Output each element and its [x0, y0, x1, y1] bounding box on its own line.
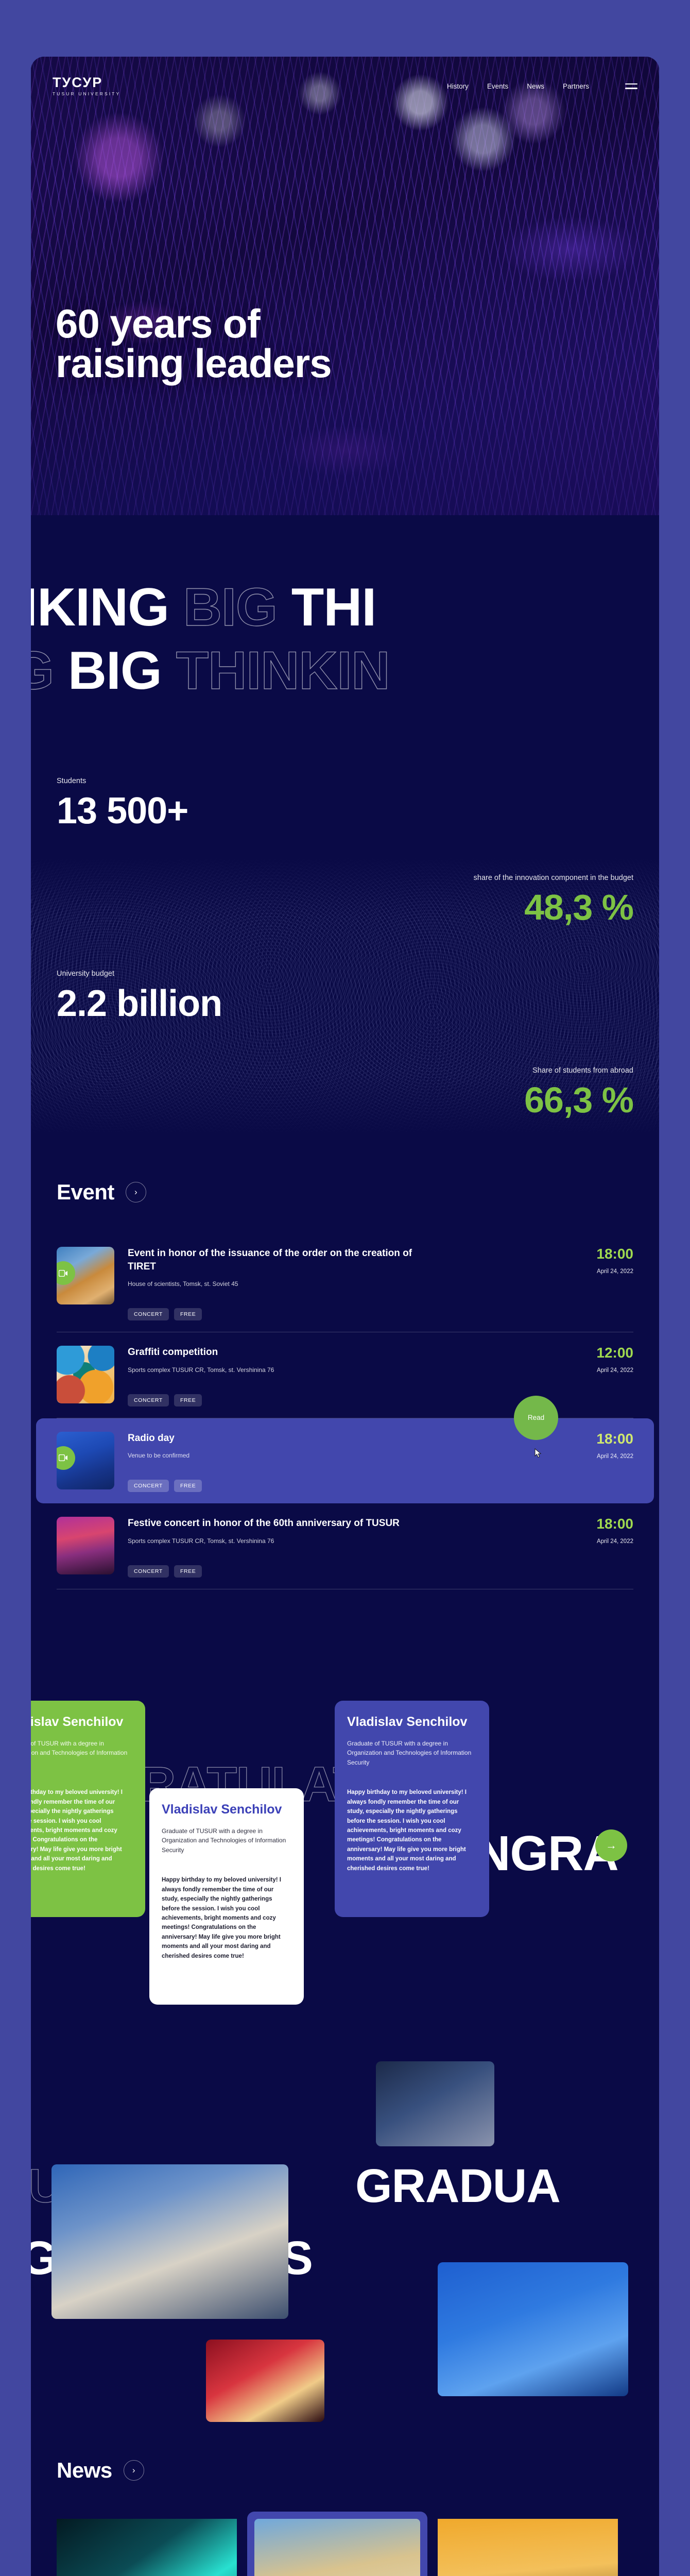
chevron-right-icon[interactable]: ›	[126, 1182, 146, 1202]
news-grid: 25.12.2021 GraduatesThe project of a TUS…	[31, 2512, 659, 2576]
graduates-photo-2	[376, 2061, 494, 2146]
stat-foreign-students: Share of students from abroad 66,3 %	[31, 1066, 659, 1118]
event-tag-concert[interactable]: CONCERT	[128, 1480, 169, 1492]
hero-section: ТУСУР TUSUR UNIVERSITY History Events Ne…	[31, 57, 659, 515]
site-logo[interactable]: ТУСУР TUSUR UNIVERSITY	[53, 76, 120, 96]
stats-section: Students 13 500+ share of the innovation…	[31, 749, 659, 1180]
event-row-active[interactable]: Radio day Venue to be confirmed CONCERT …	[36, 1418, 654, 1503]
marquee-word-5: BIG	[68, 641, 162, 701]
hamburger-menu-icon[interactable]	[625, 83, 637, 89]
event-date: April 24, 2022	[556, 1453, 633, 1460]
testimonial-message: Happy birthday to my beloved university!…	[31, 1788, 133, 1873]
news-section-header: News ›	[31, 2458, 659, 2483]
hero-title-line-2: raising leaders	[56, 341, 332, 386]
event-tag-concert[interactable]: CONCERT	[128, 1565, 169, 1578]
stat-label-students: Students	[57, 777, 633, 785]
event-tags: CONCERT FREE	[128, 1565, 543, 1578]
events-title: Event	[57, 1180, 114, 1205]
event-date: April 24, 2022	[556, 1367, 633, 1374]
mouse-cursor-icon	[534, 1448, 543, 1459]
logo-main-text: ТУСУР	[53, 76, 120, 90]
testimonial-card-white[interactable]: Vladislav Senchilov Graduate of TUSUR wi…	[149, 1788, 304, 2005]
top-navigation-bar: ТУСУР TUSUR UNIVERSITY History Events Ne…	[31, 57, 659, 101]
testimonial-name: Vladislav Senchilov	[347, 1714, 477, 1730]
marquee-section: INKING BIG THI NG BIG THINKIN	[31, 515, 659, 749]
graduates-solid-word-right: GRADUA	[355, 2159, 560, 2213]
event-title: Festive concert in honor of the 60th ann…	[128, 1517, 416, 1530]
read-button[interactable]: Read	[514, 1396, 558, 1440]
event-time: 12:00	[556, 1346, 633, 1360]
stat-value-university-budget: 2.2 billion	[57, 985, 633, 1022]
testimonial-card-blue[interactable]: Vladislav Senchilov Graduate of TUSUR wi…	[335, 1701, 489, 1917]
marquee-row-2: NG BIG THINKIN	[31, 639, 659, 703]
event-thumbnail	[57, 1517, 114, 1574]
graduates-photo-1	[51, 2164, 288, 2319]
event-title: Event in honor of the issuance of the or…	[128, 1247, 416, 1273]
testimonial-card-green[interactable]: Vladislav Senchilov Graduate of TUSUR wi…	[31, 1701, 145, 1917]
hero-vignette	[31, 57, 659, 515]
event-tags: CONCERT FREE	[128, 1308, 543, 1320]
hero-title: 60 years of raising leaders	[56, 304, 332, 383]
event-tag-free[interactable]: FREE	[174, 1394, 202, 1406]
stat-value-students: 13 500+	[57, 792, 633, 829]
congratulations-section: CONGRATULATION CONGRA Vladislav Senchilo…	[31, 1623, 659, 2030]
event-title: Graffiti competition	[128, 1346, 416, 1359]
stat-university-budget: University budget 2.2 billion	[31, 970, 659, 1022]
marquee-word-3: THI	[291, 578, 376, 637]
hamburger-bar-2	[625, 88, 637, 89]
event-date: April 24, 2022	[556, 1268, 633, 1275]
events-section-header: Event ›	[31, 1180, 659, 1205]
event-place: Sports complex TUSUR CR, Tomsk, st. Vers…	[128, 1537, 543, 1545]
nav-item-partners[interactable]: Partners	[563, 82, 589, 90]
marquee-word-1: INKING	[31, 578, 169, 637]
video-icon	[57, 1261, 75, 1285]
event-tag-free[interactable]: FREE	[174, 1308, 202, 1320]
event-meta: 12:00 April 24, 2022	[556, 1346, 633, 1406]
event-meta: 18:00 April 24, 2022	[556, 1247, 633, 1320]
stat-label-university-budget: University budget	[57, 970, 633, 978]
event-main: Radio day Venue to be confirmed CONCERT …	[128, 1432, 543, 1492]
event-divider	[57, 1589, 633, 1589]
event-time: 18:00	[556, 1517, 633, 1531]
marquee-word-2: BIG	[183, 578, 277, 637]
stat-value-innovation-share: 48,3 %	[57, 889, 633, 925]
event-meta: 18:00 April 24, 2022	[556, 1517, 633, 1577]
nav-item-history[interactable]: History	[447, 82, 469, 90]
news-image	[57, 2519, 237, 2576]
event-row[interactable]: Event in honor of the issuance of the or…	[36, 1233, 654, 1332]
news-card[interactable]: 25.12.2021 GraduatesThe project of a TUS…	[57, 2512, 237, 2576]
news-image	[254, 2519, 420, 2576]
event-title: Radio day	[128, 1432, 416, 1445]
event-tag-concert[interactable]: CONCERT	[128, 1308, 169, 1320]
testimonial-name: Vladislav Senchilov	[31, 1714, 133, 1730]
events-section: Event › Event in honor of the issuance o…	[31, 1180, 659, 1609]
hero-title-line-1: 60 years of	[56, 301, 260, 346]
graduates-section: DUATES GRADUA GRADUATES	[31, 2030, 659, 2422]
logo-sub-text: TUSUR UNIVERSITY	[53, 91, 120, 96]
page-frame: ТУСУР TUSUR UNIVERSITY History Events Ne…	[31, 57, 659, 2576]
news-image	[438, 2519, 618, 2576]
main-nav: History Events News Partners	[447, 82, 637, 90]
event-place: Sports complex TUSUR CR, Tomsk, st. Vers…	[128, 1366, 543, 1374]
marquee-word-4: NG	[31, 641, 54, 701]
event-tag-free[interactable]: FREE	[174, 1480, 202, 1492]
event-row[interactable]: Festive concert in honor of the 60th ann…	[36, 1503, 654, 1588]
event-place: Venue to be confirmed	[128, 1452, 543, 1459]
event-thumbnail	[57, 1432, 114, 1489]
arrow-right-icon[interactable]: →	[595, 1829, 627, 1861]
event-place: House of scientists, Tomsk, st. Soviet 4…	[128, 1280, 543, 1287]
event-tag-free[interactable]: FREE	[174, 1565, 202, 1578]
graduates-photo-4	[206, 2340, 324, 2422]
event-time: 18:00	[556, 1247, 633, 1261]
news-card[interactable]: 25.12.2021 A team of TUSUR scientists is…	[438, 2512, 618, 2576]
news-section: News › 25.12.2021 GraduatesThe project o…	[31, 2422, 659, 2576]
event-main: Event in honor of the issuance of the or…	[128, 1247, 543, 1320]
hamburger-bar-1	[625, 83, 637, 85]
testimonial-role: Graduate of TUSUR with a degree in Organ…	[31, 1739, 133, 1768]
stat-students: Students 13 500+	[31, 777, 659, 829]
nav-item-events[interactable]: Events	[487, 82, 508, 90]
news-title: News	[57, 2458, 112, 2483]
chevron-right-icon[interactable]: ›	[124, 2460, 144, 2481]
testimonial-message: Happy birthday to my beloved university!…	[162, 1875, 291, 1961]
event-meta: 18:00 April 24, 2022	[556, 1432, 633, 1492]
testimonial-role: Graduate of TUSUR with a degree in Organ…	[347, 1739, 477, 1768]
stat-label-foreign-students: Share of students from abroad	[57, 1066, 633, 1075]
marquee-row-1: INKING BIG THI	[31, 576, 659, 639]
event-tags: CONCERT FREE	[128, 1394, 543, 1406]
event-main: Festive concert in honor of the 60th ann…	[128, 1517, 543, 1577]
event-time: 18:00	[556, 1432, 633, 1446]
event-row[interactable]: Graffiti competition Sports complex TUSU…	[36, 1332, 654, 1417]
nav-item-news[interactable]: News	[527, 82, 544, 90]
testimonial-message: Happy birthday to my beloved university!…	[347, 1788, 477, 1873]
event-main: Graffiti competition Sports complex TUSU…	[128, 1346, 543, 1406]
stat-value-foreign-students: 66,3 %	[57, 1082, 633, 1118]
stat-innovation-share: share of the innovation component in the…	[31, 874, 659, 925]
graduates-photo-3	[438, 2262, 628, 2396]
stat-label-innovation-share: share of the innovation component in the…	[57, 874, 633, 882]
event-tags: CONCERT FREE	[128, 1480, 543, 1492]
testimonial-role: Graduate of TUSUR with a degree in Organ…	[162, 1826, 291, 1855]
video-icon	[57, 1446, 75, 1470]
testimonial-name: Vladislav Senchilov	[162, 1802, 291, 1817]
event-thumbnail	[57, 1346, 114, 1403]
news-card-active[interactable]: 25.12.2021 Issues of integration of educ…	[247, 2512, 427, 2576]
event-thumbnail	[57, 1247, 114, 1304]
marquee-word-6: THINKIN	[176, 641, 390, 701]
event-tag-concert[interactable]: CONCERT	[128, 1394, 169, 1406]
event-date: April 24, 2022	[556, 1538, 633, 1545]
